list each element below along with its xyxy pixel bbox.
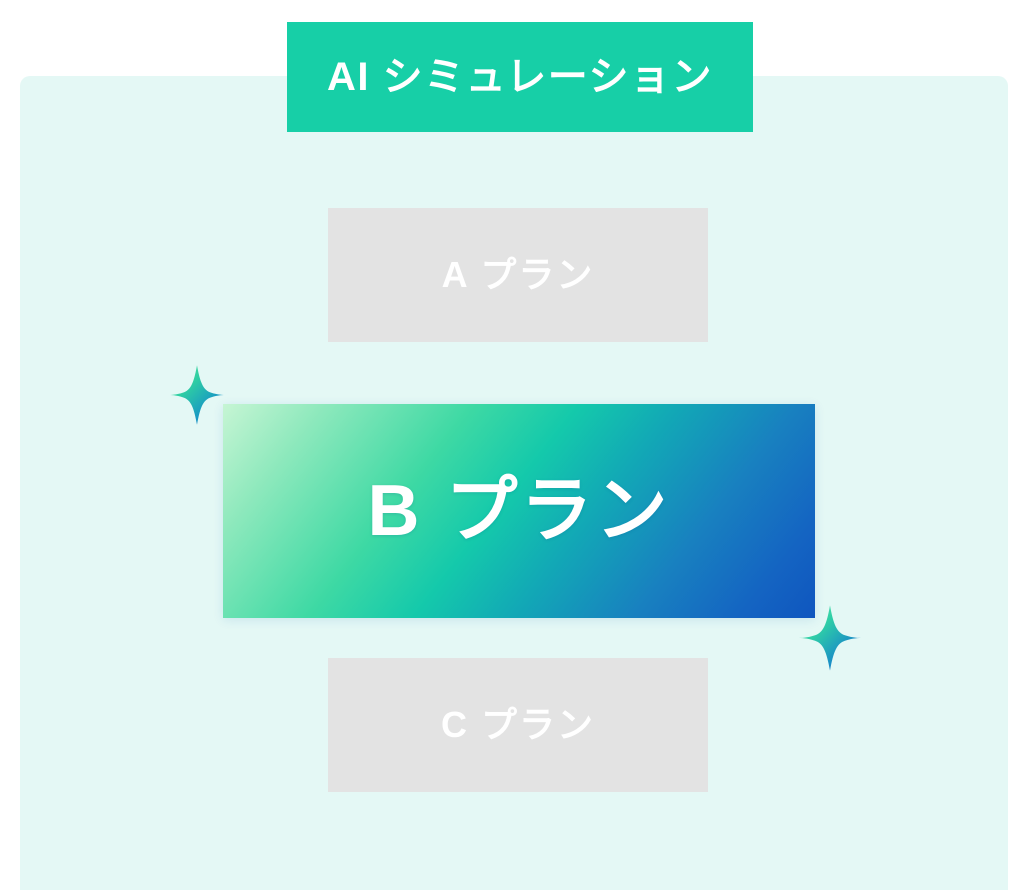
header-badge: AI シミュレーション [287,22,753,132]
simulation-graphic: AI シミュレーション A プラン B プラン C プラン [0,0,1024,890]
header-badge-label: AI シミュレーション [327,57,713,97]
sparkle-icon [166,364,228,426]
plan-card-c-label: C プラン [441,707,595,743]
sparkle-icon [796,604,864,672]
plan-card-b-label: B プラン [367,475,670,547]
plan-card-a-label: A プラン [442,257,595,293]
plan-card-a[interactable]: A プラン [328,208,708,342]
plan-card-b[interactable]: B プラン [223,404,815,618]
plan-card-c[interactable]: C プラン [328,658,708,792]
